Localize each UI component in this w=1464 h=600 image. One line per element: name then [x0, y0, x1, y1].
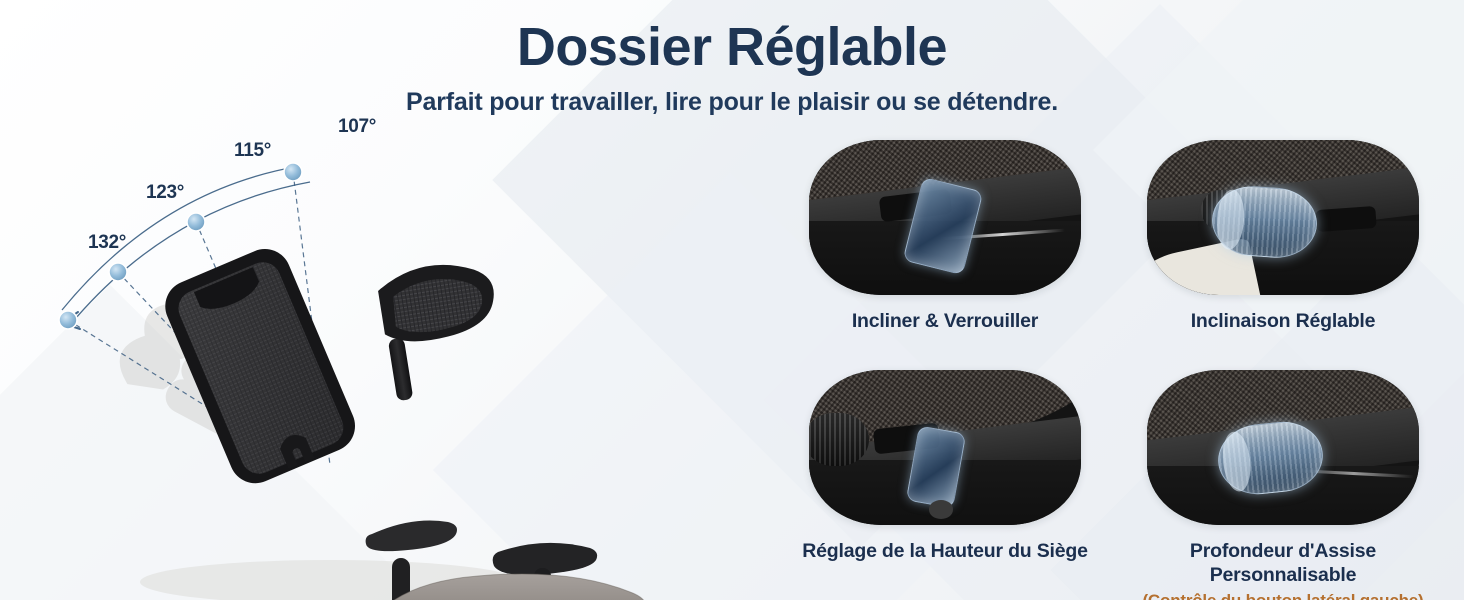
promo-banner: Dossier Réglable Parfait pour travailler… [0, 0, 1464, 600]
feature-caption: Inclinaison Réglable [1118, 309, 1448, 333]
feature-seat-depth[interactable]: Profondeur d'Assise Personnalisable (Con… [1118, 370, 1448, 600]
feature-grid: Incliner & Verrouiller Inclinaison Régla… [760, 140, 1464, 600]
feature-caption-note: (Contrôle du bouton latéral gauche) [1118, 590, 1448, 600]
shell-notch [1315, 206, 1376, 232]
page-title: Dossier Réglable [0, 20, 1464, 74]
caster-bolt [929, 500, 953, 519]
chair-headrest [375, 257, 508, 402]
feature-photo-recline-and-lock [809, 140, 1081, 295]
banner-header: Dossier Réglable Parfait pour travailler… [0, 0, 1464, 117]
chair-illustration [0, 120, 720, 600]
chair-backrest [157, 241, 363, 491]
feature-caption: Réglage de la Hauteur du Siège [780, 539, 1110, 563]
page-subtitle: Parfait pour travailler, lire pour le pl… [0, 88, 1464, 117]
feature-adjustable-tilt[interactable]: Inclinaison Réglable [1118, 140, 1448, 333]
feature-photo-adjustable-tilt [1147, 140, 1419, 295]
feature-caption: Incliner & Verrouiller [780, 309, 1110, 333]
feature-caption: Profondeur d'Assise Personnalisable [1118, 539, 1448, 588]
seat-depth-dark-knob[interactable] [809, 413, 869, 466]
recline-diagram: 132° 123° 115° 107° [0, 120, 720, 600]
feature-photo-seat-depth [1147, 370, 1419, 525]
feature-seat-height-adjustment[interactable]: Réglage de la Hauteur du Siège [780, 370, 1110, 563]
feature-photo-seat-height [809, 370, 1081, 525]
feature-recline-and-lock[interactable]: Incliner & Verrouiller [780, 140, 1110, 333]
chair-svg [0, 120, 720, 600]
